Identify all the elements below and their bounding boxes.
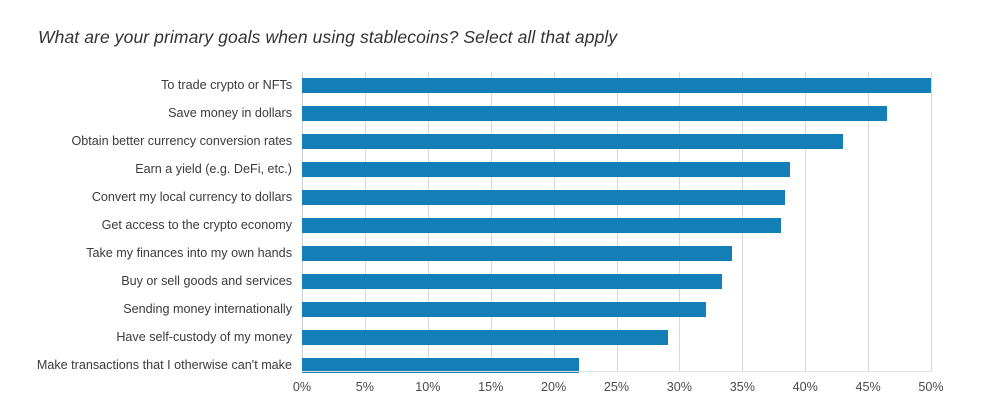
bar	[302, 302, 706, 317]
x-axis-tick-label: 5%	[335, 380, 395, 394]
x-axis-tick-label: 15%	[461, 380, 521, 394]
x-axis-tick-label: 45%	[838, 380, 898, 394]
bar-row	[302, 72, 931, 100]
bar-row	[302, 324, 931, 352]
bar-row	[302, 212, 931, 240]
x-axis-tick-label: 50%	[901, 380, 961, 394]
x-axis-tick-label: 0%	[272, 380, 332, 394]
bar-row	[302, 100, 931, 128]
bar-row	[302, 352, 931, 380]
x-axis-tick-label: 30%	[649, 380, 709, 394]
bar-row	[302, 296, 931, 324]
y-axis-label: To trade crypto or NFTs	[161, 78, 292, 93]
x-axis-line	[302, 371, 931, 372]
x-axis-tick-label: 40%	[775, 380, 835, 394]
y-axis-label: Earn a yield (e.g. DeFi, etc.)	[135, 162, 292, 177]
bar-chart: What are your primary goals when using s…	[0, 0, 996, 407]
y-axis-label: Get access to the crypto economy	[102, 218, 292, 233]
y-axis-label: Sending money internationally	[123, 302, 292, 317]
plot-area	[302, 72, 931, 372]
x-axis-tick-label: 25%	[587, 380, 647, 394]
y-axis-label: Take my finances into my own hands	[86, 246, 292, 261]
bar-row	[302, 156, 931, 184]
bar	[302, 218, 781, 233]
bar	[302, 246, 732, 261]
page-title: What are your primary goals when using s…	[38, 27, 617, 48]
gridline-50%	[931, 72, 932, 372]
bar	[302, 106, 887, 121]
bar-row	[302, 240, 931, 268]
y-axis-label: Buy or sell goods and services	[121, 274, 292, 289]
bar	[302, 78, 931, 93]
x-axis-tick-label: 10%	[398, 380, 458, 394]
y-axis-label: Have self-custody of my money	[116, 330, 292, 345]
bar-row	[302, 128, 931, 156]
bar	[302, 190, 785, 205]
bar	[302, 134, 843, 149]
bar	[302, 330, 668, 345]
bar-row	[302, 184, 931, 212]
y-axis-label: Obtain better currency conversion rates	[72, 134, 293, 149]
y-axis-label: Make transactions that I otherwise can't…	[37, 358, 292, 373]
bar-row	[302, 268, 931, 296]
x-axis-tick-label: 20%	[524, 380, 584, 394]
bar	[302, 274, 722, 289]
bar	[302, 162, 790, 177]
y-axis-label: Convert my local currency to dollars	[92, 190, 292, 205]
y-axis-label: Save money in dollars	[168, 106, 292, 121]
x-axis-tick-label: 35%	[712, 380, 772, 394]
